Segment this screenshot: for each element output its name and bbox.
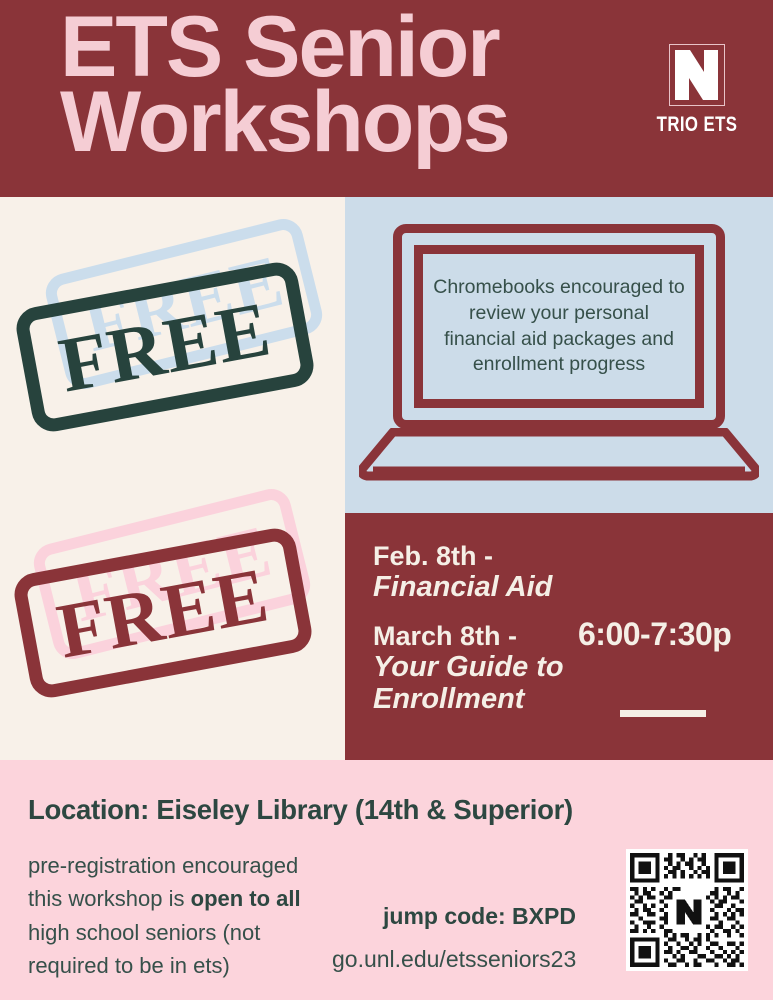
event-2-date: March 8th -	[373, 621, 564, 652]
event-1-date: Feb. 8th -	[373, 541, 552, 572]
registration-notes: pre-registration encouraged this worksho…	[28, 849, 301, 983]
time-underline-rule	[620, 710, 706, 717]
note-line-3: high school seniors (not	[28, 916, 301, 949]
jump-code-label: jump code: BXPD	[383, 903, 576, 930]
short-url-link[interactable]: go.unl.edu/etsseniors23	[332, 946, 576, 973]
laptop-screen-text: Chromebooks encouraged to review your pe…	[423, 275, 695, 379]
event-2-title-line-2: Enrollment	[373, 684, 564, 716]
event-1-title: Financial Aid	[373, 572, 552, 604]
note-line-4: required to be in ets)	[28, 949, 301, 982]
free-stamps-panel: FREE FREE FREE FREE	[0, 197, 345, 760]
qr-code[interactable]	[626, 849, 748, 971]
event-2-title-line-1: Your Guide to	[373, 652, 564, 684]
note-line-2: this workshop is open to all	[28, 882, 301, 915]
event-time: 6:00-7:30p	[578, 616, 731, 653]
title-line-2: Workshops	[60, 83, 660, 162]
laptop-illustration-panel: Chromebooks encouraged to review your pe…	[345, 197, 773, 513]
note-line-2-prefix: this workshop is	[28, 886, 191, 911]
laptop-base-icon	[359, 428, 759, 487]
header-banner: ETS Senior Workshops TRIO ETS	[0, 0, 773, 197]
poster: ETS Senior Workshops TRIO ETS FREE FREE …	[0, 0, 773, 1000]
unl-trio-ets-logo: TRIO ETS	[645, 44, 749, 137]
nebraska-n-icon	[669, 44, 725, 106]
page-title: ETS Senior Workshops	[60, 8, 660, 162]
logo-subtitle: TRIO ETS	[655, 113, 738, 137]
note-line-1: pre-registration encouraged	[28, 849, 301, 882]
laptop-screen: Chromebooks encouraged to review your pe…	[414, 245, 704, 408]
dates-panel: Feb. 8th - Financial Aid March 8th - You…	[345, 513, 773, 760]
event-2: March 8th - Your Guide to Enrollment	[373, 621, 564, 716]
laptop-icon: Chromebooks encouraged to review your pe…	[393, 224, 725, 429]
event-1: Feb. 8th - Financial Aid	[373, 541, 552, 604]
location-heading: Location: Eiseley Library (14th & Superi…	[28, 794, 573, 826]
note-line-2-emphasis: open to all	[191, 886, 301, 911]
